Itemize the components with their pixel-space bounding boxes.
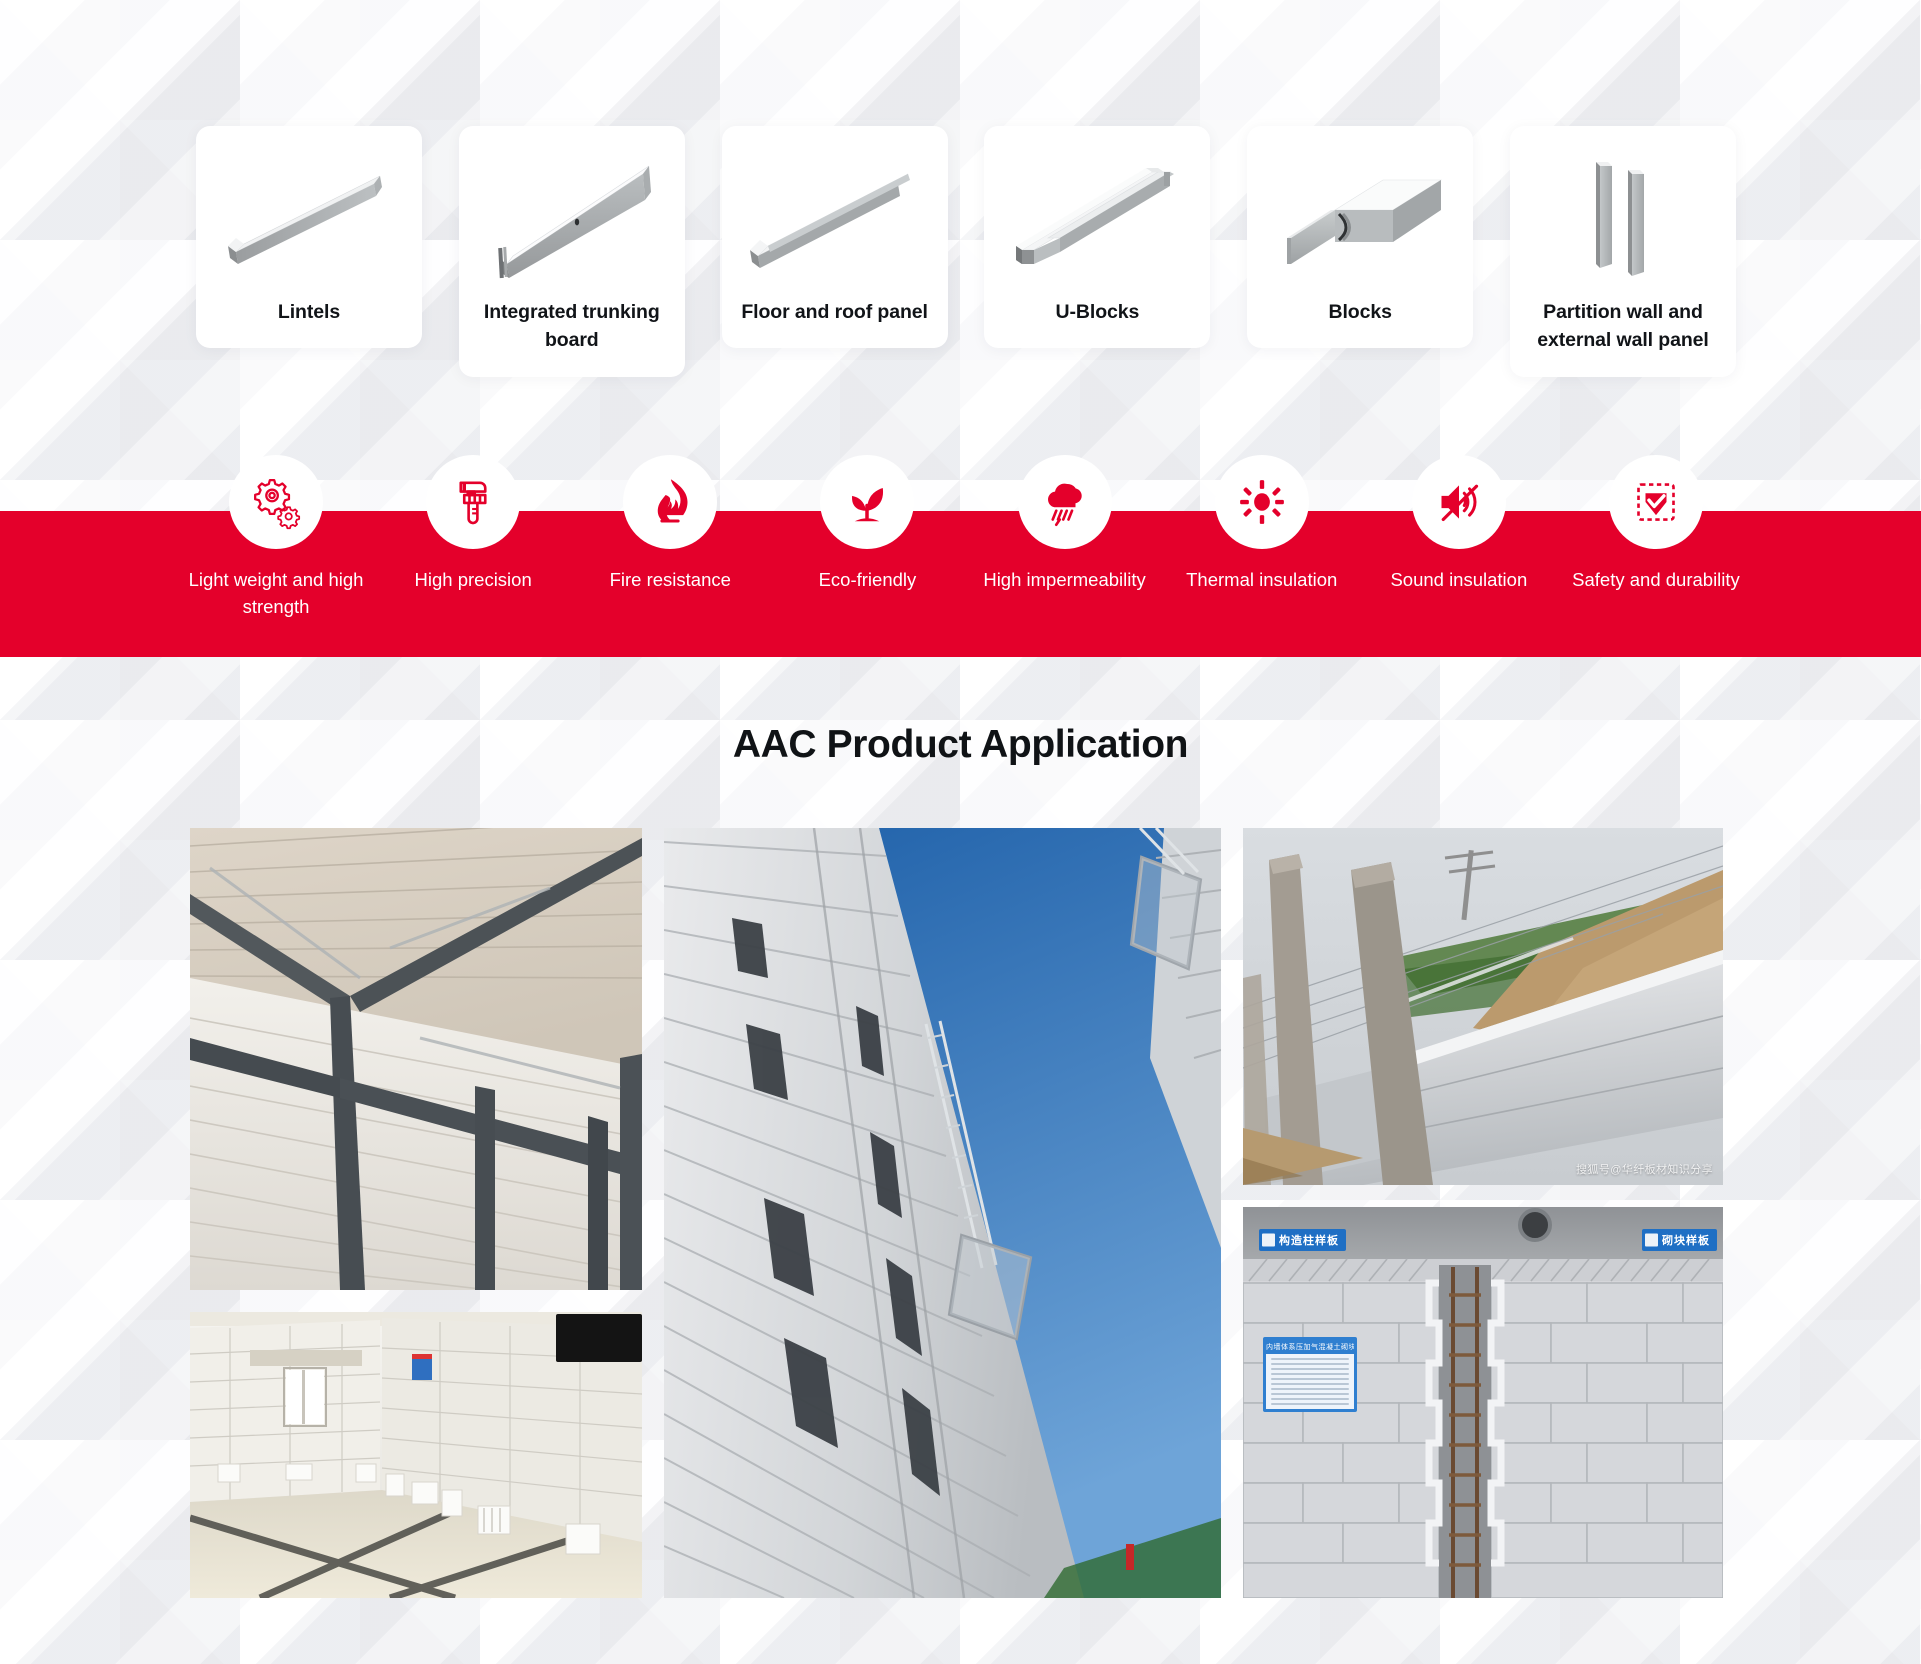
- product-card-trunking-board[interactable]: Integrated trunking board: [459, 126, 685, 377]
- sign-block-sample: 砌块样板: [1642, 1229, 1717, 1251]
- feature-label: Sound insulation: [1390, 567, 1527, 594]
- gallery-column-right: 搜狐号@华纤板材知识分享: [1243, 828, 1723, 1598]
- lintel-bar-icon: [214, 152, 404, 280]
- application-gallery: 搜狐号@华纤板材知识分享: [190, 828, 1743, 1598]
- photo-watermark: 搜狐号@华纤板材知识分享: [1576, 1161, 1713, 1177]
- feature-item-high-precision[interactable]: High precision: [385, 455, 561, 594]
- product-card-blocks[interactable]: Blocks: [1247, 126, 1473, 348]
- feature-item-sound-insulation[interactable]: Sound insulation: [1371, 455, 1547, 594]
- gears-icon: [229, 455, 323, 549]
- rain-cloud-icon: [1018, 455, 1112, 549]
- placard-title: 内墙体系压加气混凝土砌块施工样板: [1266, 1340, 1354, 1354]
- gallery-column-left: [190, 828, 642, 1598]
- photo-building-facade[interactable]: [664, 828, 1221, 1598]
- product-card-strip: Lintels: [196, 126, 1736, 377]
- sun-icon: [1215, 455, 1309, 549]
- floor-roof-panel-icon: [740, 152, 930, 280]
- feature-item-fire-resistance[interactable]: Fire resistance: [582, 455, 758, 594]
- information-placard: 内墙体系压加气混凝土砌块施工样板: [1263, 1337, 1357, 1412]
- sprout-icon: [820, 455, 914, 549]
- photo-site-fence-wall[interactable]: 搜狐号@华纤板材知识分享: [1243, 828, 1723, 1185]
- aac-product-page: Lintels: [0, 0, 1921, 1664]
- feature-label: Eco-friendly: [819, 567, 917, 594]
- feature-label: High impermeability: [983, 567, 1145, 594]
- feature-item-light-weight[interactable]: Light weight and high strength: [188, 455, 364, 621]
- feature-item-thermal-insulation[interactable]: Thermal insulation: [1174, 455, 1350, 594]
- product-label: Integrated trunking board: [469, 298, 675, 355]
- feature-item-eco-friendly[interactable]: Eco-friendly: [779, 455, 955, 594]
- feature-label: Safety and durability: [1572, 567, 1740, 594]
- product-label: Lintels: [278, 298, 340, 326]
- photo-warehouse-interior[interactable]: [190, 828, 642, 1290]
- product-label: U-Blocks: [1056, 298, 1140, 326]
- feature-label: Fire resistance: [610, 567, 731, 594]
- placard-lines: [1266, 1354, 1354, 1409]
- product-label: Blocks: [1329, 298, 1392, 326]
- trunking-board-icon: [477, 152, 667, 280]
- feature-label: High precision: [415, 567, 532, 594]
- feature-item-safety-durability[interactable]: Safety and durability: [1568, 455, 1744, 594]
- product-card-partition-panel[interactable]: Partition wall and external wall panel: [1510, 126, 1736, 377]
- page-title: AAC Product Application: [0, 723, 1921, 767]
- product-card-lintels[interactable]: Lintels: [196, 126, 422, 348]
- u-block-icon: [1002, 152, 1192, 280]
- feature-label: Thermal insulation: [1186, 567, 1337, 594]
- gallery-column-middle: [664, 828, 1221, 1598]
- caliper-icon: [426, 455, 520, 549]
- feature-label: Light weight and high strength: [188, 567, 364, 621]
- feature-list: Light weight and high strength: [188, 455, 1744, 665]
- partition-panel-icon: [1528, 152, 1718, 280]
- product-label: Partition wall and external wall panel: [1520, 298, 1726, 355]
- flame-icon: [623, 455, 717, 549]
- photo-block-wall-sample[interactable]: 构造柱样板 砌块样板 内墙体系压加气混凝土砌块施工样板: [1243, 1207, 1723, 1598]
- checkbox-shield-icon: [1609, 455, 1703, 549]
- block-icon: [1265, 152, 1455, 280]
- product-card-u-blocks[interactable]: U-Blocks: [984, 126, 1210, 348]
- feature-item-high-impermeability[interactable]: High impermeability: [977, 455, 1153, 594]
- sign-structural-column: 构造柱样板: [1259, 1229, 1346, 1251]
- muted-speaker-icon: [1412, 455, 1506, 549]
- product-card-floor-roof-panel[interactable]: Floor and roof panel: [722, 126, 948, 348]
- product-label: Floor and roof panel: [741, 298, 928, 326]
- photo-showroom-interior[interactable]: [190, 1312, 642, 1598]
